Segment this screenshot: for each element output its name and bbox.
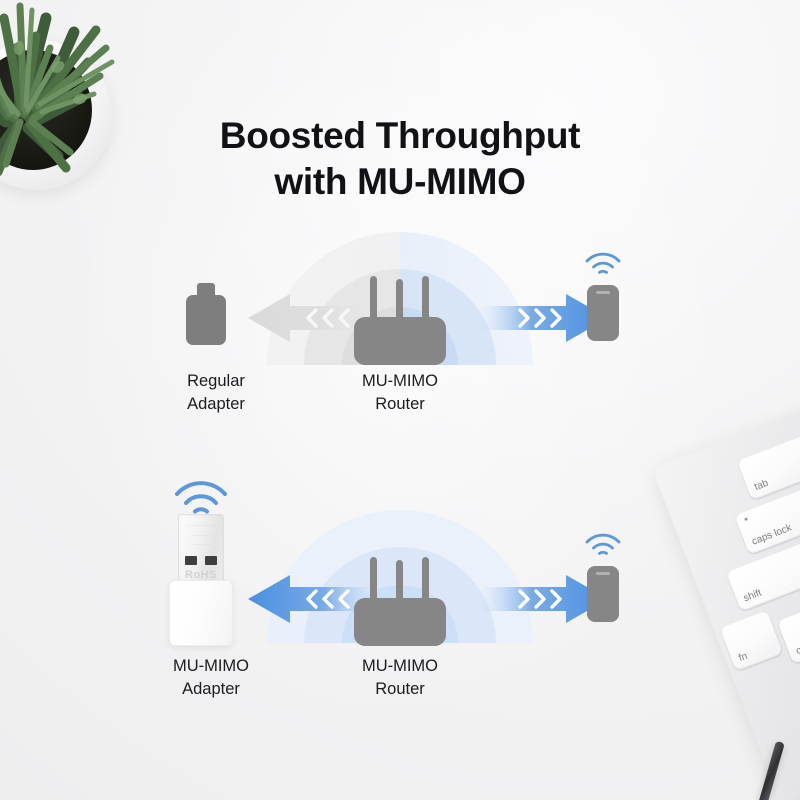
diagram-mu-mimo-adapter: ············· ········· ·········· RoHS bbox=[150, 450, 650, 715]
key-shift-label: shift bbox=[742, 587, 763, 604]
phone-speaker bbox=[596, 572, 610, 575]
key-fn-label: fn bbox=[737, 651, 749, 664]
label-mu-mimo-adapter-line1: MU-MIMO bbox=[146, 655, 276, 678]
caps-lock-indicator-icon bbox=[744, 517, 748, 521]
label-regular-adapter-line2: Adapter bbox=[156, 393, 276, 416]
adapter-print-line1: ············· bbox=[179, 523, 223, 529]
label-router-bottom-line2: Router bbox=[340, 678, 460, 701]
adapter-usb-connector: ············· ········· ·········· RoHS bbox=[178, 514, 224, 588]
adapter-contact-right bbox=[205, 556, 217, 565]
label-router-bottom: MU-MIMO Router bbox=[340, 655, 460, 702]
smartphone-icon-top bbox=[587, 285, 619, 341]
wifi-icon-phone-bottom bbox=[583, 528, 623, 556]
wifi-icon-adapter bbox=[172, 474, 230, 514]
label-router-bottom-line1: MU-MIMO bbox=[340, 655, 460, 678]
label-regular-adapter-line1: Regular bbox=[156, 370, 276, 393]
label-router-top-line2: Router bbox=[340, 393, 460, 416]
label-router-top-line1: MU-MIMO bbox=[340, 370, 460, 393]
router-body bbox=[354, 598, 446, 646]
label-router-top: MU-MIMO Router bbox=[340, 370, 460, 417]
dongle-body bbox=[186, 295, 226, 345]
router-antenna-middle bbox=[396, 279, 403, 321]
router-antenna-middle bbox=[396, 560, 403, 602]
phone-speaker bbox=[596, 291, 610, 294]
diagram-regular-adapter: Regular Adapter MU-MIMO Router bbox=[150, 190, 650, 430]
adapter-print-line2: ········· bbox=[179, 533, 223, 539]
router-antenna-right bbox=[422, 557, 429, 602]
page-title-line1: Boosted Throughput bbox=[220, 115, 580, 156]
router-antenna-right bbox=[422, 276, 429, 321]
key-control-label: control bbox=[795, 636, 800, 657]
router-icon-bottom bbox=[354, 556, 446, 646]
label-regular-adapter: Regular Adapter bbox=[156, 370, 276, 417]
router-antenna-left bbox=[370, 276, 377, 321]
router-icon-top bbox=[354, 275, 446, 365]
adapter-case bbox=[169, 580, 233, 646]
adapter-print-line3: ·········· bbox=[179, 542, 223, 548]
router-body bbox=[354, 317, 446, 365]
router-antenna-left bbox=[370, 557, 377, 602]
screenshot-stage: tab caps lock shift fn control option Bo… bbox=[0, 0, 800, 800]
label-mu-mimo-adapter: MU-MIMO Adapter bbox=[146, 655, 276, 702]
regular-adapter-icon bbox=[186, 283, 226, 345]
smartphone-icon-bottom bbox=[587, 566, 619, 622]
wifi-icon-phone-top bbox=[583, 247, 623, 275]
adapter-contact-left bbox=[185, 556, 197, 565]
mu-mimo-adapter-icon: ············· ········· ·········· RoHS bbox=[169, 514, 231, 644]
key-tab-label: tab bbox=[753, 478, 770, 493]
label-mu-mimo-adapter-line2: Adapter bbox=[146, 678, 276, 701]
